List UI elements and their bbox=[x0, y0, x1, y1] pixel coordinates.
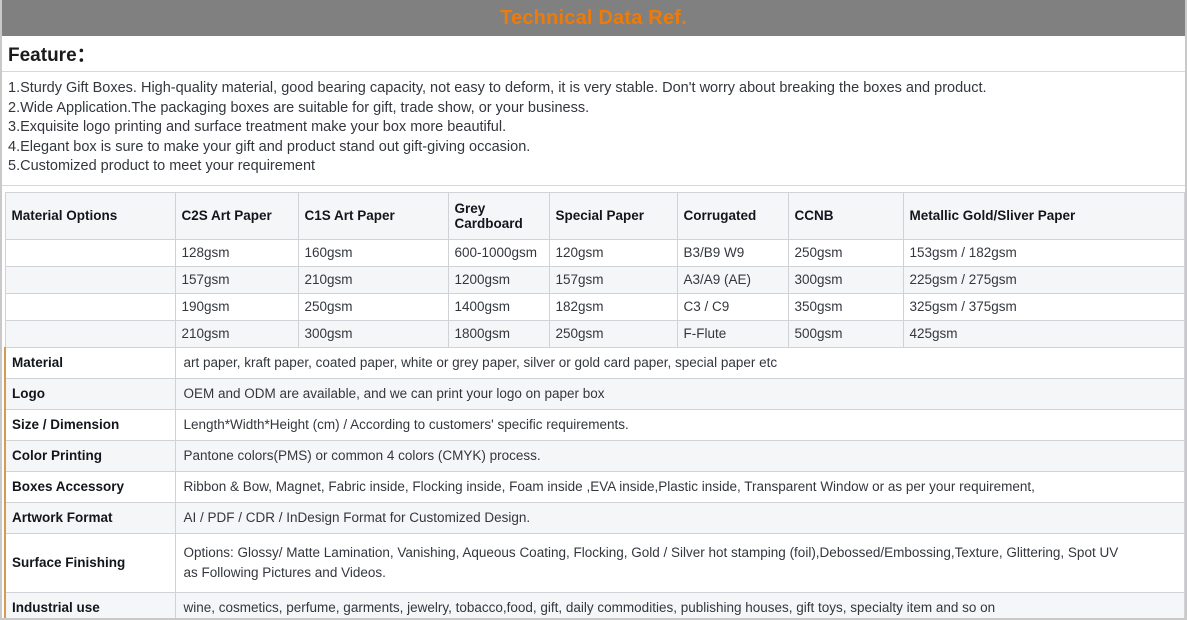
column-header-special-paper: Special Paper bbox=[549, 192, 677, 239]
cell: 1800gsm bbox=[448, 320, 549, 347]
attribute-value: art paper, kraft paper, coated paper, wh… bbox=[175, 347, 1184, 378]
cell: 160gsm bbox=[298, 239, 448, 266]
attribute-label: Artwork Format bbox=[5, 502, 175, 533]
cell: 350gsm bbox=[788, 293, 903, 320]
cell: 1400gsm bbox=[448, 293, 549, 320]
attribute-label: Color Printing bbox=[5, 440, 175, 471]
cell bbox=[5, 266, 175, 293]
technical-data-page: Technical Data Ref. Feature： 1.Sturdy Gi… bbox=[0, 0, 1187, 620]
cell bbox=[5, 239, 175, 266]
cell: 182gsm bbox=[549, 293, 677, 320]
cell: 325gsm / 375gsm bbox=[903, 293, 1184, 320]
cell: F-Flute bbox=[677, 320, 788, 347]
attribute-value: Ribbon & Bow, Magnet, Fabric inside, Flo… bbox=[175, 471, 1184, 502]
feature-list: 1.Sturdy Gift Boxes. High-quality materi… bbox=[2, 72, 1185, 186]
column-header-grey-cardboard: Grey Cardboard bbox=[448, 192, 549, 239]
attribute-row-surface-finishing: Surface Finishing Options: Glossy/ Matte… bbox=[5, 533, 1184, 592]
feature-line: 4.Elegant box is sure to make your gift … bbox=[8, 138, 1179, 158]
attribute-value-line: wine, cosmetics, perfume, garments, jewe… bbox=[184, 598, 1178, 618]
feature-line: 2.Wide Application.The packaging boxes a… bbox=[8, 99, 1179, 119]
cell: 250gsm bbox=[298, 293, 448, 320]
cell: 210gsm bbox=[175, 320, 298, 347]
attribute-value: Options: Glossy/ Matte Lamination, Vanis… bbox=[175, 533, 1184, 592]
attribute-value: OEM and ODM are available, and we can pr… bbox=[175, 378, 1184, 409]
column-header-metallic: Metallic Gold/Sliver Paper bbox=[903, 192, 1184, 239]
cell: 1200gsm bbox=[448, 266, 549, 293]
cell: 157gsm bbox=[549, 266, 677, 293]
attribute-value-line: art paper, kraft paper, coated paper, wh… bbox=[184, 353, 1178, 373]
attribute-value-line: Length*Width*Height (cm) / According to … bbox=[184, 415, 1178, 435]
cell: 210gsm bbox=[298, 266, 448, 293]
cell: 500gsm bbox=[788, 320, 903, 347]
cell: 157gsm bbox=[175, 266, 298, 293]
cell: 128gsm bbox=[175, 239, 298, 266]
cell: 300gsm bbox=[298, 320, 448, 347]
cell: 250gsm bbox=[788, 239, 903, 266]
attribute-label: Size / Dimension bbox=[5, 409, 175, 440]
attribute-value-line: Pantone colors(PMS) or common 4 colors (… bbox=[184, 446, 1178, 466]
cell bbox=[5, 293, 175, 320]
cell: 225gsm / 275gsm bbox=[903, 266, 1184, 293]
specification-table: Material Options C2S Art Paper C1S Art P… bbox=[4, 192, 1185, 620]
cell: 120gsm bbox=[549, 239, 677, 266]
column-header-material-options: Material Options bbox=[5, 192, 175, 239]
feature-heading-label: Feature： bbox=[8, 40, 96, 67]
attribute-label: Material bbox=[5, 347, 175, 378]
cell: 153gsm / 182gsm bbox=[903, 239, 1184, 266]
attribute-label: Surface Finishing bbox=[5, 533, 175, 592]
table-row: 128gsm 160gsm 600-1000gsm 120gsm B3/B9 W… bbox=[5, 239, 1184, 266]
feature-line: 3.Exquisite logo printing and surface tr… bbox=[8, 118, 1179, 138]
attribute-row-boxes-accessory: Boxes Accessory Ribbon & Bow, Magnet, Fa… bbox=[5, 471, 1184, 502]
attribute-label: Industrial use bbox=[5, 592, 175, 620]
table-row: 157gsm 210gsm 1200gsm 157gsm A3/A9 (AE) … bbox=[5, 266, 1184, 293]
cell: 190gsm bbox=[175, 293, 298, 320]
attribute-label: Logo bbox=[5, 378, 175, 409]
attribute-value: wine, cosmetics, perfume, garments, jewe… bbox=[175, 592, 1184, 620]
attribute-row-industrial-use: Industrial use wine, cosmetics, perfume,… bbox=[5, 592, 1184, 620]
attribute-value-line: AI / PDF / CDR / InDesign Format for Cus… bbox=[184, 508, 1178, 528]
attribute-value: Pantone colors(PMS) or common 4 colors (… bbox=[175, 440, 1184, 471]
cell: 300gsm bbox=[788, 266, 903, 293]
attribute-value-line: as Following Pictures and Videos. bbox=[184, 563, 1178, 583]
cell: 600-1000gsm bbox=[448, 239, 549, 266]
material-header-row: Material Options C2S Art Paper C1S Art P… bbox=[5, 192, 1184, 239]
attribute-value: AI / PDF / CDR / InDesign Format for Cus… bbox=[175, 502, 1184, 533]
attribute-row-size-dimension: Size / Dimension Length*Width*Height (cm… bbox=[5, 409, 1184, 440]
attribute-value: Length*Width*Height (cm) / According to … bbox=[175, 409, 1184, 440]
feature-heading: Feature： bbox=[2, 36, 1185, 72]
feature-line: 5.Customized product to meet your requir… bbox=[8, 157, 1179, 177]
attribute-value-line: Options: Glossy/ Matte Lamination, Vanis… bbox=[184, 543, 1178, 563]
cell: B3/B9 W9 bbox=[677, 239, 788, 266]
attribute-value-line: Ribbon & Bow, Magnet, Fabric inside, Flo… bbox=[184, 477, 1178, 497]
attribute-row-material: Material art paper, kraft paper, coated … bbox=[5, 347, 1184, 378]
cell bbox=[5, 320, 175, 347]
attribute-row-artwork-format: Artwork Format AI / PDF / CDR / InDesign… bbox=[5, 502, 1184, 533]
column-header-ccnb: CCNB bbox=[788, 192, 903, 239]
cell: C3 / C9 bbox=[677, 293, 788, 320]
attribute-value-line: OEM and ODM are available, and we can pr… bbox=[184, 384, 1178, 404]
table-row: 190gsm 250gsm 1400gsm 182gsm C3 / C9 350… bbox=[5, 293, 1184, 320]
cell: 425gsm bbox=[903, 320, 1184, 347]
column-header-c1s: C1S Art Paper bbox=[298, 192, 448, 239]
cell: A3/A9 (AE) bbox=[677, 266, 788, 293]
feature-line: 1.Sturdy Gift Boxes. High-quality materi… bbox=[8, 79, 1179, 99]
column-header-c2s: C2S Art Paper bbox=[175, 192, 298, 239]
cell: 250gsm bbox=[549, 320, 677, 347]
attribute-label: Boxes Accessory bbox=[5, 471, 175, 502]
attribute-row-color-printing: Color Printing Pantone colors(PMS) or co… bbox=[5, 440, 1184, 471]
attribute-row-logo: Logo OEM and ODM are available, and we c… bbox=[5, 378, 1184, 409]
page-title: Technical Data Ref. bbox=[500, 8, 687, 28]
title-bar: Technical Data Ref. bbox=[2, 0, 1185, 36]
column-header-corrugated: Corrugated bbox=[677, 192, 788, 239]
table-row: 210gsm 300gsm 1800gsm 250gsm F-Flute 500… bbox=[5, 320, 1184, 347]
